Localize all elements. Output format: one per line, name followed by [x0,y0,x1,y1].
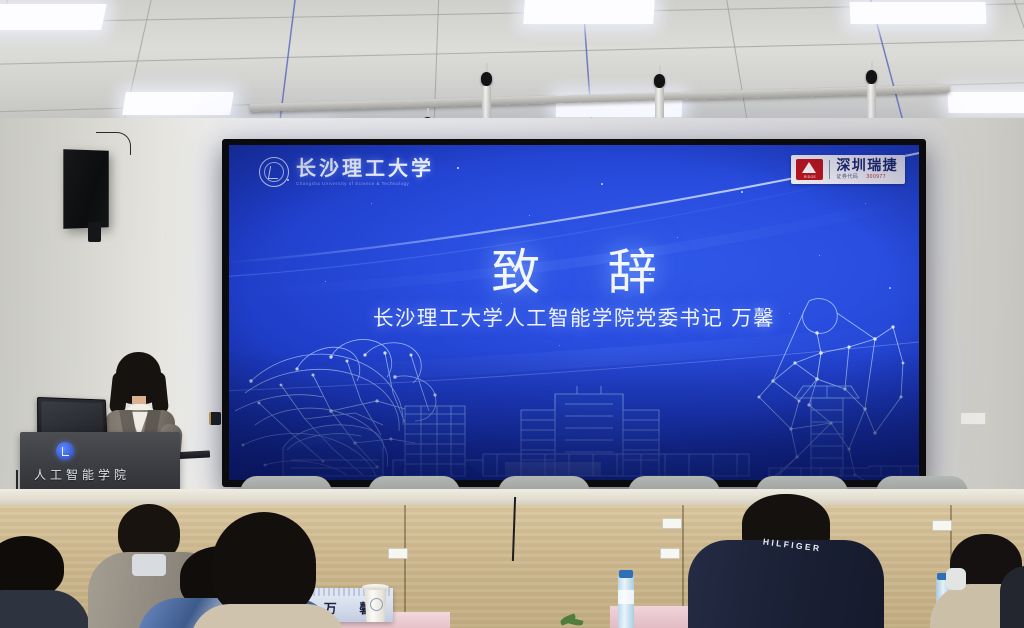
ceiling-panel-light [122,92,234,115]
ceiling-spotlight [481,63,492,122]
wall-speaker-icon [63,149,108,229]
paper-cup-logo [370,598,383,611]
water-bottle-cap [619,570,633,578]
wall-plate-icon [960,412,986,425]
table-plant-icon [560,612,584,628]
audience-head [212,512,316,616]
audience-shoulders [190,604,346,628]
ceiling-panel-light [947,92,1024,113]
desk-label-tag [662,518,682,529]
slide-vignette [229,145,919,480]
ceiling-panel-light [0,4,107,30]
desk-label-tag [388,548,408,559]
desk-label-tag [660,548,680,559]
speaker-mount-bracket [88,222,101,242]
lecture-hall-scene: 长沙理工大学 Changsha University of Science & … [0,0,1024,628]
audience-face-mask-icon [946,568,966,590]
ceiling-spotlight [654,65,665,124]
list-item [1000,566,1024,628]
university-emblem-icon [56,442,74,460]
ceiling-panel-light [850,2,987,24]
list-item [0,536,78,628]
audience-shoulders [0,590,90,628]
ceiling-panel-light [523,0,655,24]
list-item: HILFIGER [688,494,884,628]
audience-shoulders [1000,566,1024,628]
audience-head [0,536,64,598]
paper-cup-rim [362,584,389,590]
water-bottle-label [618,590,634,604]
led-screen-bezel: 长沙理工大学 Changsha University of Science & … [222,139,926,487]
podium-label: 人工智能学院 [34,466,166,483]
desk-seam [404,505,406,628]
ceiling-spotlight [866,61,877,120]
desk-label-tag [932,520,952,531]
list-item [196,512,334,628]
wall-sensor-icon[interactable] [209,412,221,425]
presentation-slide[interactable]: 长沙理工大学 Changsha University of Science & … [229,145,919,480]
